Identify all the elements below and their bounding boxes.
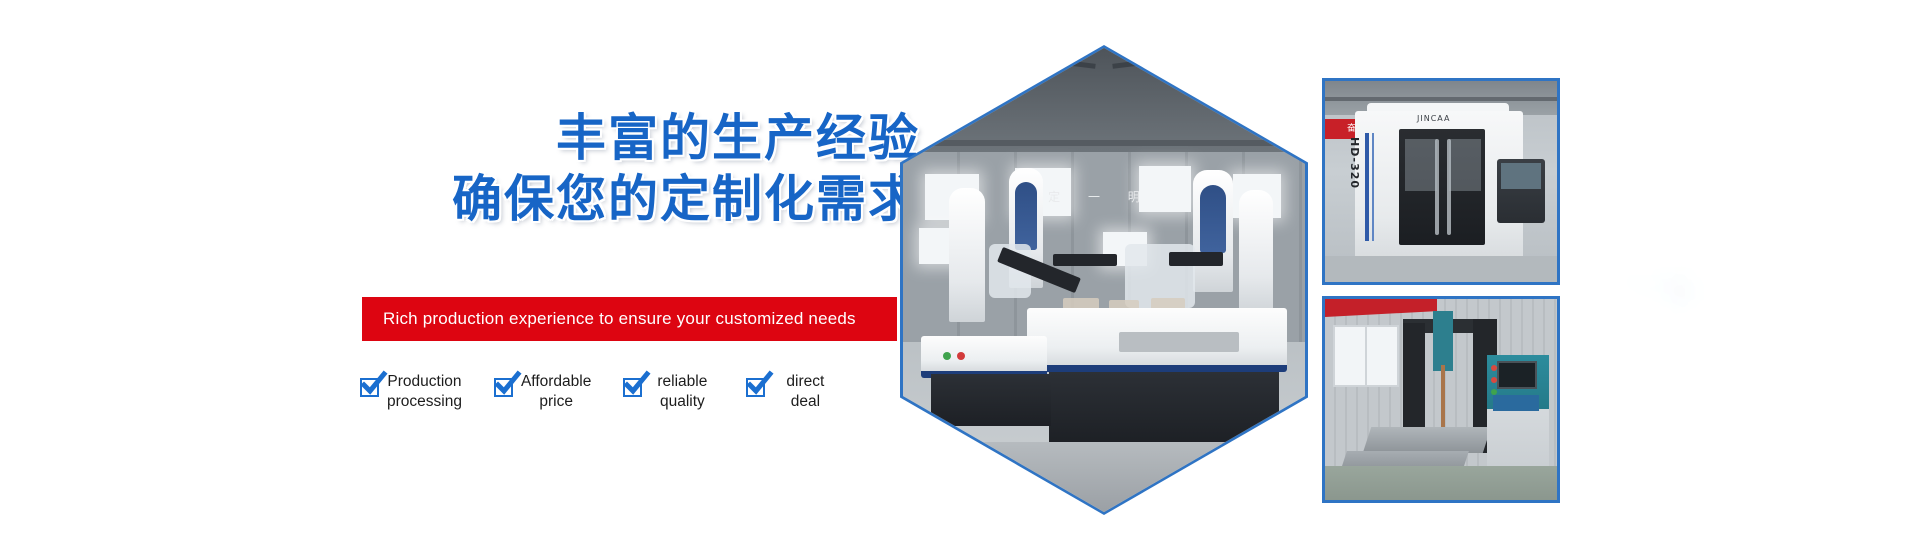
machine-model-label: HD-320 — [1348, 137, 1361, 189]
headline-line-2: 确保您的定制化需求 — [300, 169, 920, 230]
machine-base-left — [931, 374, 1051, 426]
indicator-red — [957, 352, 965, 360]
headline: 丰富的生产经验 确保您的定制化需求 — [300, 108, 920, 230]
feature-label: reliable quality — [650, 372, 714, 412]
machine-bed-slot — [1119, 332, 1239, 352]
boring-machine-scene — [1325, 299, 1557, 500]
machine-stripe-secondary — [1372, 133, 1374, 241]
wall-window — [1333, 325, 1399, 387]
machine-arm — [1053, 254, 1117, 266]
machine-bed-left — [921, 336, 1047, 378]
control-button-red — [1491, 377, 1497, 383]
photo-floor — [1325, 466, 1557, 500]
photo-hd-320-machining-center[interactable]: 奋力 HD-320 JINCAA — [1322, 78, 1560, 285]
photo-cnc-boring-machine[interactable] — [1322, 296, 1560, 503]
machine-column-left — [949, 188, 985, 322]
control-button-red — [1491, 365, 1497, 371]
control-button-green — [1491, 389, 1497, 395]
checkbox-checked-icon[interactable] — [746, 378, 765, 397]
indicator-green — [943, 352, 951, 360]
feature-label: direct deal — [773, 372, 837, 412]
feature-item-affordable-price[interactable]: Affordable price — [494, 372, 591, 412]
feature-label: Affordable price — [521, 372, 591, 412]
machine-brand-label: JINCAA — [1417, 114, 1450, 123]
door-glass — [1449, 139, 1481, 191]
machine-bed — [1027, 308, 1287, 372]
roof-beam — [903, 140, 1305, 146]
feature-item-reliable-quality[interactable]: reliable quality — [623, 372, 714, 412]
hd-320-scene: 奋力 HD-320 JINCAA — [1325, 81, 1557, 282]
hexagon-feature-image: 定 一 明 — [900, 45, 1308, 515]
feature-item-production-processing[interactable]: Production processing — [360, 372, 462, 412]
feature-item-direct-deal[interactable]: direct deal — [746, 372, 837, 412]
feature-label: Production processing — [387, 372, 462, 412]
machine-column-blue-right — [1193, 170, 1233, 292]
factory-floor — [903, 442, 1305, 512]
machine-blue-panel — [1015, 182, 1037, 249]
machine-table-upper — [1363, 427, 1491, 453]
checkbox-checked-icon[interactable] — [494, 378, 513, 397]
checkbox-checked-icon[interactable] — [360, 378, 379, 397]
machine-blue-panel — [1200, 185, 1226, 253]
machine-arm — [1169, 252, 1223, 266]
promo-banner: 丰富的生产经验 确保您的定制化需求 Rich production experi… — [0, 0, 1920, 560]
feature-list: Production processing Affordable price r… — [360, 372, 837, 412]
machine-spindle — [1441, 365, 1445, 427]
control-panel — [1493, 395, 1539, 411]
headline-line-1: 丰富的生产经验 — [300, 108, 920, 169]
wall-slogan-text: 定 一 明 — [1040, 188, 1161, 210]
ceiling-beam — [1325, 97, 1557, 101]
machine-ram — [1433, 311, 1453, 371]
machine-column-right — [1239, 190, 1273, 314]
photo-floor — [1325, 256, 1557, 282]
control-screen — [1501, 163, 1541, 189]
subtitle-red-bar: Rich production experience to ensure you… — [362, 297, 897, 341]
hexagon-photo-clip: 定 一 明 — [903, 48, 1305, 512]
checkbox-checked-icon[interactable] — [623, 378, 642, 397]
machine-stripe — [1365, 133, 1369, 241]
cnc-machine-scene: 定 一 明 — [903, 48, 1305, 512]
subtitle-text: Rich production experience to ensure you… — [362, 309, 856, 329]
door-glass — [1405, 139, 1437, 191]
control-screen — [1497, 361, 1537, 389]
